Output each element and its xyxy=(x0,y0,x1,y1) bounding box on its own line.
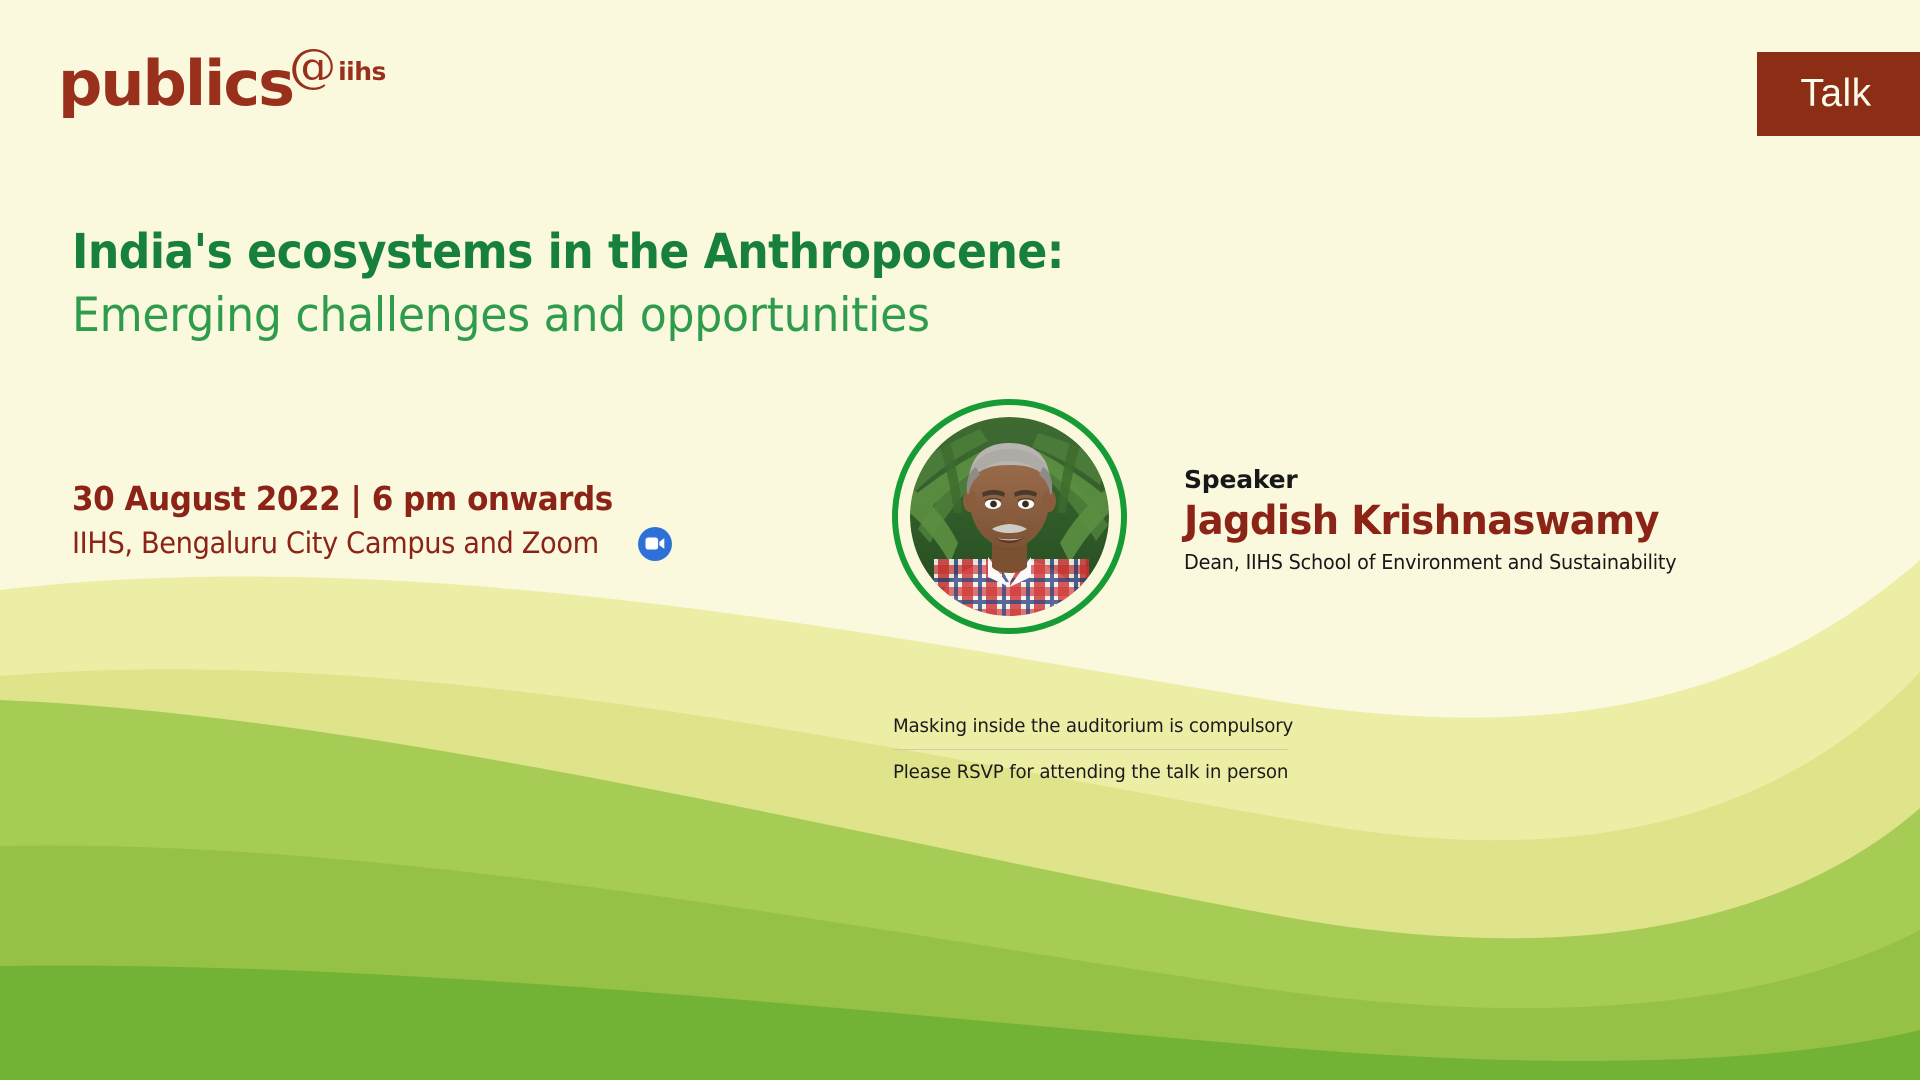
logo-wordmark: publics xyxy=(58,58,293,110)
speaker-portrait xyxy=(910,417,1109,616)
wave-green-band xyxy=(0,846,1920,1080)
talk-badge-label: Talk xyxy=(1800,72,1893,116)
logo-iihs-text: iihs xyxy=(338,59,386,84)
speaker-name: Jagdish Krishnaswamy xyxy=(1184,497,1676,545)
note-rsvp: Please RSVP for attending the talk in pe… xyxy=(893,758,1277,787)
poster-title-block: India's ecosystems in the Anthropocene: … xyxy=(72,224,1150,344)
zoom-video-icon[interactable] xyxy=(638,527,672,561)
talk-poster: publics @ iihs Talk India's ecosystems i… xyxy=(0,0,1920,1080)
speaker-designation: Dean, IIHS School of Environment and Sus… xyxy=(1184,549,1676,575)
speaker-info-block: Speaker Jagdish Krishnaswamy Dean, IIHS … xyxy=(1184,464,1697,575)
speaker-role-label: Speaker xyxy=(1184,464,1697,495)
event-details-block: 30 August 2022 | 6 pm onwards IIHS, Beng… xyxy=(72,478,672,561)
at-symbol-icon: @ xyxy=(289,48,336,86)
event-venue: IIHS, Bengaluru City Campus and Zoom xyxy=(72,526,599,561)
talk-type-badge: Talk xyxy=(1757,52,1920,136)
publics-iihs-logo[interactable]: publics @ iihs xyxy=(58,48,386,110)
wave-deep-band xyxy=(0,966,1920,1080)
event-datetime: 30 August 2022 | 6 pm onwards xyxy=(72,478,636,519)
speaker-photo-ring xyxy=(892,399,1127,634)
note-masking: Masking inside the auditorium is compuls… xyxy=(893,712,1277,741)
event-venue-row: IIHS, Bengaluru City Campus and Zoom xyxy=(72,526,672,561)
logo-at-group: @ iihs xyxy=(289,48,386,86)
notes-divider xyxy=(893,749,1288,750)
wave-pale-band xyxy=(0,560,1920,1080)
page-title: India's ecosystems in the Anthropocene: xyxy=(72,224,1064,281)
page-subtitle: Emerging challenges and opportunities xyxy=(72,287,1085,344)
notes-block: Masking inside the auditorium is compuls… xyxy=(893,712,1293,786)
